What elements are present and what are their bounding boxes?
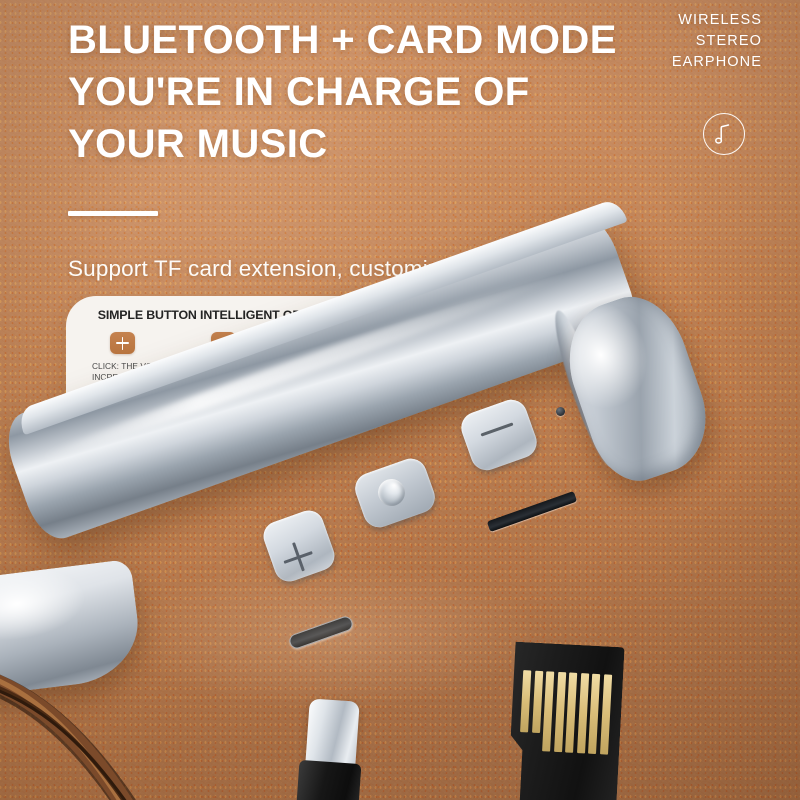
headline-line-2: YOU'RE IN CHARGE OF — [68, 66, 628, 118]
usb-c-plug-body — [296, 760, 362, 800]
tf-card-slot — [487, 491, 577, 532]
corner-tagline-line-3: EARPHONE — [672, 52, 762, 73]
bluetooth-receiver-device — [0, 270, 740, 690]
headline-line-3: YOUR MUSIC — [68, 118, 628, 170]
microsd-pin — [588, 674, 600, 754]
microsd-pin — [520, 670, 531, 732]
microsd-pin — [599, 674, 611, 754]
microsd-contact-pins — [519, 670, 612, 755]
volume-down-button[interactable] — [457, 395, 541, 474]
accent-divider — [68, 211, 158, 216]
headline-line-1: BLUETOOTH + CARD MODE — [68, 14, 628, 66]
corner-tagline-line-1: WIRELESS — [672, 10, 762, 31]
usb-c-charging-port — [287, 614, 354, 650]
headline: BLUETOOTH + CARD MODE YOU'RE IN CHARGE O… — [68, 14, 628, 170]
microphone-hole — [556, 407, 565, 416]
product-banner: BLUETOOTH + CARD MODE YOU'RE IN CHARGE O… — [0, 0, 800, 800]
microsd-pin — [554, 672, 566, 752]
usb-c-plug-tip — [305, 698, 360, 769]
music-note-icon — [714, 123, 734, 145]
braided-cable — [0, 662, 200, 800]
microsd-pin — [532, 671, 543, 733]
music-note-badge — [703, 113, 745, 155]
microsd-pin — [565, 673, 577, 753]
microsd-pin — [542, 671, 554, 751]
corner-tagline-line-2: STEREO — [672, 31, 762, 52]
corner-tagline: WIRELESS STEREO EARPHONE — [672, 10, 762, 73]
microsd-pin — [577, 673, 589, 753]
usb-c-plug — [296, 698, 366, 800]
